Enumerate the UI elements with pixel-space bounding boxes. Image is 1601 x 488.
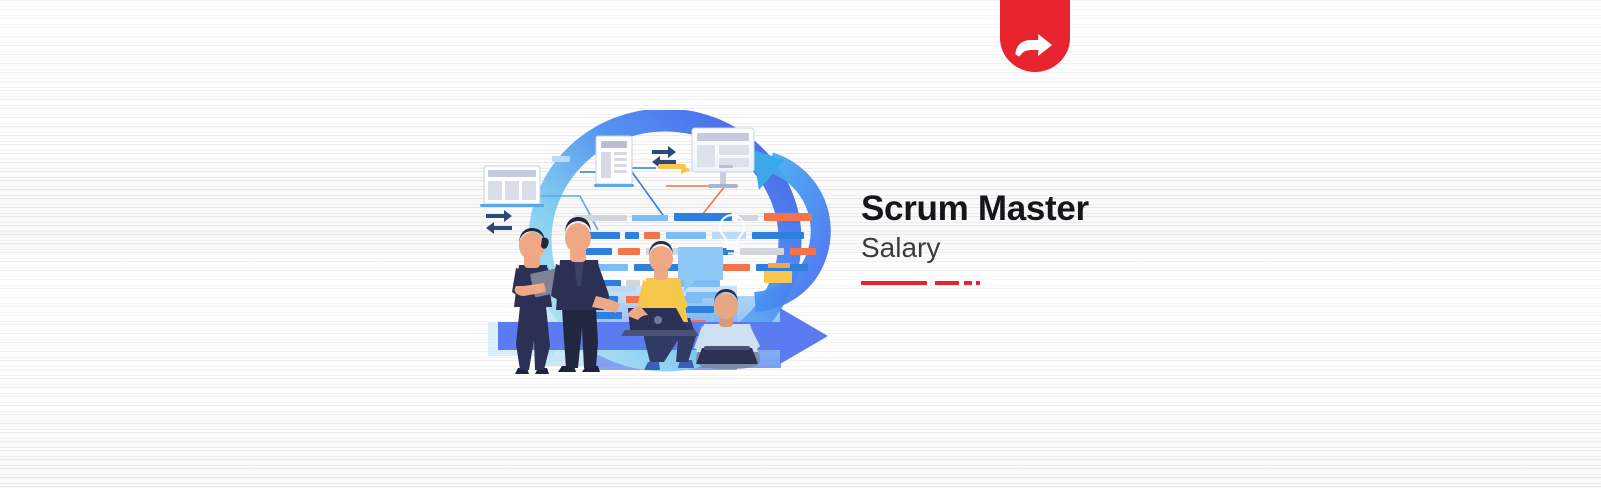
heading-block: Scrum Master Salary xyxy=(861,188,1281,266)
monitor-card-top xyxy=(692,128,754,188)
shield-shape xyxy=(1000,0,1070,72)
page-subtitle: Salary xyxy=(861,230,1281,266)
document-card xyxy=(594,136,634,187)
page-title: Scrum Master xyxy=(861,188,1281,230)
monitor-card-left xyxy=(480,166,544,207)
banner-hero: Scrum Master Salary xyxy=(0,0,1601,488)
exchange-arrows-left xyxy=(486,210,512,234)
upgrad-shield-logo[interactable] xyxy=(1000,0,1070,72)
rule-dash-3 xyxy=(964,281,972,285)
red-dashed-rule xyxy=(861,281,981,285)
rule-dash-4 xyxy=(976,281,980,285)
agile-scrum-team-illustration xyxy=(480,110,850,378)
rule-dash-2 xyxy=(935,281,959,285)
rule-dash-1 xyxy=(861,281,927,285)
